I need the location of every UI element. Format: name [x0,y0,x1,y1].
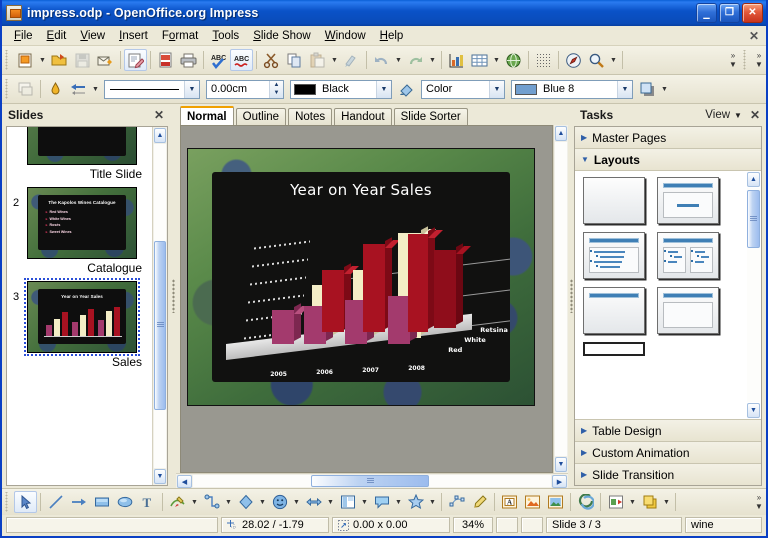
display-grid-icon[interactable] [532,49,555,71]
title-content-bullets-layout[interactable] [583,232,645,279]
scroll-down-icon[interactable]: ▼ [747,403,760,418]
scrollbar-thumb[interactable] [747,190,760,248]
editor-area: Normal Outline Notes Handout Slide Sorte… [176,104,568,488]
overflow-arrow-2: ▼ [755,60,763,69]
scrollbar-thumb[interactable] [311,475,429,487]
canvas-vertical-scrollbar[interactable]: ▲ ▼ [553,125,568,473]
overflow-arrow: ▼ [729,60,737,69]
slides-list-container: 1 Fine wines from Brambleburn Vineyards … [6,126,168,486]
slide-thumbnail[interactable]: The Kapolos Wines Catalogue Red Wines Wh… [27,187,137,259]
slide-label: Catalogue [7,259,152,277]
line-color-value: Black [316,83,376,95]
scroll-left-icon[interactable]: ◀ [177,475,192,488]
line-color-icon[interactable] [44,78,67,100]
slide-indicator-field: Slide 3 / 3 [546,517,682,533]
title-bar: impress.odp - OpenOffice.org Impress – ❐… [2,0,766,26]
cursor-position-value: 28.02 / -1.79 [242,519,304,531]
toolbar-grip[interactable] [4,50,11,70]
stars-icon[interactable] [404,491,427,513]
list-item[interactable]: 3 Year on Year Sales [7,277,152,353]
zoom-field[interactable]: 34% [453,517,493,533]
standard-toolbar-overflow-2[interactable]: » ▼ [752,47,766,73]
arrow-style-dropdown[interactable]: ▼ [90,78,101,100]
gallery-icon[interactable] [544,491,567,513]
select-icon[interactable] [14,491,37,513]
title-only-layout[interactable] [583,287,645,334]
menu-help[interactable]: Help [373,28,411,44]
task-section-label: Custom Animation [592,446,689,460]
autospellcheck-icon[interactable]: ABC [230,49,253,71]
toolbar-separator [256,51,257,69]
bar-2007-red [363,244,385,332]
zoom-dropdown[interactable]: ▼ [608,49,619,71]
new-document-icon[interactable] [14,49,37,71]
chevron-down-icon[interactable]: ▼ [184,81,199,98]
redo-icon[interactable] [404,49,427,71]
toolbar-separator [622,51,623,69]
scrollbar-track[interactable] [747,188,760,402]
task-section-label: Slide Transition [592,468,674,482]
toolbar-separator [494,493,495,511]
callouts-icon[interactable] [370,491,393,513]
fontwork-icon[interactable]: A [498,491,521,513]
axis-label-2006: 2006 [316,369,333,376]
line-width-spinner[interactable]: 0.00cm ▲▼ [206,80,284,99]
scroll-up-icon[interactable]: ▲ [747,172,760,187]
svg-text:ABC: ABC [211,55,226,62]
fill-color-value: Blue 8 [537,83,617,95]
axis-label-2007: 2007 [362,367,379,374]
cursor-position-field[interactable]: 28.02 / -1.79 [221,517,329,533]
redo-dropdown[interactable]: ▼ [427,49,438,71]
line-width-stepper[interactable]: ▲▼ [269,81,283,98]
tab-normal[interactable]: Normal [180,106,234,125]
series-label-white: White [464,336,486,344]
chart-title: Year on Year Sales [212,181,510,199]
block-arrows-dropdown[interactable]: ▼ [325,491,336,513]
toolbar-separator [40,493,41,511]
list-item[interactable]: 2 The Kapolos Wines Catalogue Red Wines … [7,183,152,259]
chart-icon[interactable] [445,49,468,71]
slide-label: Title Slide [7,165,152,183]
menu-insert[interactable]: Insert [112,28,155,44]
toolbar-separator [528,51,529,69]
line-icon[interactable] [44,491,67,513]
depth-grid [254,241,310,250]
hyperlink-icon[interactable] [502,49,525,71]
fill-type-combo[interactable]: Color ▼ [421,80,505,99]
slides-panel: Slides ✕ 1 Fine wines from Brambleburn V… [2,104,170,488]
arrow-style-icon[interactable] [67,78,90,100]
menu-tools[interactable]: Tools [205,28,246,44]
chevron-down-icon[interactable]: ▼ [489,81,504,98]
clone-formatting-icon[interactable] [340,49,363,71]
curve-dropdown[interactable]: ▼ [189,491,200,513]
email-document-icon[interactable] [94,49,117,71]
status-signature-field [521,517,543,533]
drawing-toolbar-grip[interactable] [4,492,11,512]
chevron-down-icon[interactable]: ▼ [617,81,632,98]
export-pdf-icon[interactable] [154,49,177,71]
cursor-position-icon [227,520,238,531]
slide-number: 3 [13,281,25,303]
bullet-item: White Wines [46,217,127,221]
tab-slide-sorter[interactable]: Slide Sorter [394,108,468,125]
menu-window[interactable]: Window [318,28,373,44]
print-icon[interactable] [177,49,200,71]
chevron-right-icon: ▶ [581,426,587,435]
chevron-right-icon: ▶ [581,448,587,457]
slide-number: 2 [13,187,25,209]
task-section-layouts[interactable]: ▼ Layouts [575,149,761,171]
navigator-icon[interactable] [562,49,585,71]
depth-grid [250,277,306,286]
title-two-content-layout[interactable] [657,232,719,279]
line-style-combo[interactable]: ▼ [104,80,200,99]
tasks-panel-header: Tasks View ▼ ✕ [574,104,766,126]
view-tabs: Normal Outline Notes Handout Slide Sorte… [176,104,568,125]
toolbar-separator [40,80,41,98]
tasks-view-label: View [705,109,730,121]
overflow-chevrons-2: » [757,51,761,60]
fill-color-combo[interactable]: Blue 8 ▼ [511,80,633,99]
mini-chart [44,305,123,339]
copy-icon[interactable] [283,49,306,71]
bar-2008-retsina [388,296,410,344]
impress-window: impress.odp - OpenOffice.org Impress – ❐… [0,0,768,538]
chevron-down-icon: ▼ [581,155,589,164]
chevron-down-icon[interactable]: ▼ [734,111,742,120]
slide-thumbnail-selected[interactable]: Year on Year Sales [27,281,137,353]
bullet-item: Rosés [46,223,127,227]
shadow-icon[interactable] [636,78,659,100]
tab-outline[interactable]: Outline [236,108,286,125]
chart-object[interactable]: Year on Year Sales [212,172,510,382]
line-style-preview [105,89,184,90]
undo-dropdown[interactable]: ▼ [393,49,404,71]
tasks-sections: ▶ Master Pages ▼ Layouts [574,126,762,486]
zoom-icon[interactable] [585,49,608,71]
chevron-right-icon: ▶ [581,470,587,479]
close-slides-panel-icon[interactable]: ✕ [152,108,166,122]
chevron-down-icon[interactable]: ▼ [376,81,391,98]
overflow-arrow: ▼ [755,502,763,511]
line-color-combo[interactable]: Black ▼ [290,80,392,99]
drawing-toolbar: T ▼ ▼ ▼ ▼ ▼ ▼ ▼ ▼ [2,488,766,515]
object-size-icon [338,520,349,531]
curve-icon[interactable] [166,491,189,513]
scroll-down-icon[interactable]: ▼ [154,469,166,484]
chevron-right-icon: ▶ [581,133,587,142]
depth-grid [248,295,304,304]
toolbar-grip-2[interactable] [742,50,749,70]
slide-content: Year on Year Sales [38,289,127,344]
menu-slide-show[interactable]: Slide Show [246,28,318,44]
scroll-up-icon[interactable]: ▲ [555,126,567,141]
rectangle-icon[interactable] [90,491,113,513]
toolbar-separator [600,493,601,511]
table-icon[interactable] [468,49,491,71]
axis-label-2005: 2005 [270,371,287,378]
overflow-chevrons: » [731,51,735,60]
caption-buttons: – ❐ ✕ [696,3,764,23]
master-name-field: wine [685,517,762,533]
symbol-shapes-icon[interactable] [268,491,291,513]
flowchart-icon[interactable] [336,491,359,513]
bar-2005-retsina [272,310,294,344]
alignment-icon[interactable] [604,491,627,513]
slide-editor: Year on Year Sales [176,125,568,473]
line-with-arrow-icon[interactable] [67,491,90,513]
task-section-label: Layouts [594,153,640,167]
title-content-layout[interactable] [657,177,719,224]
fill-type-value: Color [422,83,489,95]
save-icon[interactable] [71,49,94,71]
svg-text:A: A [507,499,512,507]
toolbar-separator [366,51,367,69]
maximize-icon: ❐ [720,8,739,18]
line-and-filling-toolbar: ▼ ▼ 0.00cm ▲▼ Black ▼ Color ▼ Blue 8 ▼ [2,75,766,104]
tab-notes[interactable]: Notes [288,108,332,125]
standard-toolbar-overflow[interactable]: » ▼ [726,47,740,73]
scrollbar-track[interactable] [555,142,567,456]
table-dropdown[interactable]: ▼ [491,49,502,71]
toolbar-separator [570,493,571,511]
line-toolbar-grip[interactable] [4,79,11,99]
task-section-master-pages[interactable]: ▶ Master Pages [575,127,761,149]
cut-icon[interactable] [260,49,283,71]
line-toolbar-overflow[interactable]: ▼ [659,78,670,100]
task-section-custom-animation[interactable]: ▶ Custom Animation [575,441,761,463]
tasks-panel: Tasks View ▼ ✕ ▶ Master Pages ▼ Layouts [574,104,766,488]
callouts-dropdown[interactable]: ▼ [393,491,404,513]
task-section-slide-transition[interactable]: ▶ Slide Transition [575,463,761,485]
overflow-chevrons: » [757,493,761,502]
slides-panel-title: Slides [8,108,43,122]
close-button[interactable]: ✕ [742,3,763,23]
menu-bar: FFileile Edit View Insert Format Tools S… [2,26,766,46]
task-section-label: Master Pages [592,131,666,145]
scrollbar-thumb[interactable] [154,241,166,409]
series-label-red: Red [448,346,462,354]
menu-edit[interactable]: Edit [40,28,74,44]
area-style-icon[interactable] [395,78,418,100]
slide-title-text: The Kapolos Wines Catalogue [38,200,127,205]
status-bar: 28.02 / -1.79 0.00 x 0.00 34% Slide 3 / … [2,515,766,536]
window-title: impress.odp - OpenOffice.org Impress [27,6,696,20]
blank-slide-layout[interactable] [583,177,645,224]
main-area: Slides ✕ 1 Fine wines from Brambleburn V… [2,104,766,488]
close-icon: ✕ [743,8,762,18]
connector-icon[interactable] [200,491,223,513]
minimize-button[interactable]: – [696,3,717,23]
slide-content: Fine wines from Brambleburn Vineyards [38,127,127,156]
object-size-value: 0.00 x 0.00 [353,519,407,531]
open-document-icon[interactable] [48,49,71,71]
scroll-up-icon[interactable]: ▲ [154,128,166,143]
layout-grid [575,171,746,419]
3d-effects-icon[interactable] [574,491,597,513]
slide-content: The Kapolos Wines Catalogue Red Wines Wh… [38,195,127,250]
slide-canvas-area[interactable]: Year on Year Sales [180,125,553,473]
menu-view[interactable]: View [73,28,112,44]
new-document-dropdown[interactable]: ▼ [37,49,48,71]
slide-title-text: Year on Year Sales [38,294,127,299]
canvas-horizontal-scrollbar[interactable]: ◀ ▶ [176,473,568,488]
slide-label: Sales [7,353,152,371]
layout-partial-row[interactable] [583,342,645,356]
arrange-dropdown[interactable]: ▼ [661,491,672,513]
bar-2008-red [408,234,428,332]
fill-color-swatch [515,84,537,95]
spelling-icon[interactable]: ABC [207,49,230,71]
bullet-item: Sweet Wines [46,230,127,234]
standard-toolbar: ▼ ABC ABC [2,46,766,75]
toolbar-separator [675,493,676,511]
alignment-dropdown[interactable]: ▼ [627,491,638,513]
toolbar-separator [162,493,163,511]
bar-2008-red-back [434,250,456,328]
slides-list[interactable]: 1 Fine wines from Brambleburn Vineyards … [7,127,152,485]
tasks-panel-title: Tasks [580,108,613,122]
connector-dropdown[interactable]: ▼ [223,491,234,513]
symbol-shapes-dropdown[interactable]: ▼ [291,491,302,513]
drawing-toolbar-overflow[interactable]: » ▼ [752,489,766,515]
toolbar-separator [441,493,442,511]
stars-dropdown[interactable]: ▼ [427,491,438,513]
task-section-label: Table Design [592,424,661,438]
layouts-scrollbar[interactable]: ▲ ▼ [746,171,761,419]
svg-text:ABC: ABC [234,56,249,63]
status-modified-field [496,517,518,533]
menu-format[interactable]: Format [155,28,205,44]
menu-file[interactable]: FFileile [7,28,40,44]
tab-handout[interactable]: Handout [334,108,391,125]
slide-bullets: Red Wines White Wines Rosés Sweet Wines [46,210,127,234]
minimize-icon: – [697,11,716,24]
scrollbar-track[interactable] [193,475,551,487]
basic-shapes-dropdown[interactable]: ▼ [257,491,268,513]
line-width-value: 0.00cm [207,83,269,95]
scroll-down-icon[interactable]: ▼ [555,457,567,472]
undo-icon[interactable] [370,49,393,71]
display-master-icon[interactable] [14,78,37,100]
impress-document-icon [6,5,22,21]
from-file-icon[interactable] [521,491,544,513]
paste-icon[interactable] [306,49,329,71]
svg-text:T: T [142,495,151,510]
paste-dropdown[interactable]: ▼ [329,49,340,71]
axis-label-2008: 2008 [408,365,425,372]
toolbar-separator [558,51,559,69]
depth-grid [252,259,308,268]
tasks-view-menu[interactable]: View ▼ [705,109,742,121]
maximize-button[interactable]: ❐ [719,3,740,23]
bullet-item: Red Wines [46,210,127,214]
glue-points-icon[interactable] [468,491,491,513]
basic-shapes-icon[interactable] [234,491,257,513]
points-icon[interactable] [445,491,468,513]
bar-2006-red [322,270,344,332]
ellipse-icon[interactable] [113,491,136,513]
toolbar-separator [150,51,151,69]
centered-text-layout[interactable] [657,287,719,334]
arrange-icon[interactable] [638,491,661,513]
toolbar-separator [441,51,442,69]
object-size-field[interactable]: 0.00 x 0.00 [332,517,450,533]
edit-file-icon[interactable] [124,49,147,71]
scrollbar-track[interactable] [154,144,166,468]
series-label-retsina: Retsina [480,326,508,334]
list-item[interactable]: 1 Fine wines from Brambleburn Vineyards [7,127,152,165]
close-document-icon[interactable]: ✕ [749,29,759,43]
layouts-list[interactable]: ▲ ▼ [575,171,761,419]
scroll-right-icon[interactable]: ▶ [552,475,567,488]
chart-plot-area: 2005 2006 2007 2008 Red White Retsina [212,202,510,382]
slide-canvas[interactable]: Year on Year Sales [187,148,535,406]
line-color-swatch [294,84,316,95]
flowchart-dropdown[interactable]: ▼ [359,491,370,513]
slide-thumbnail[interactable]: Fine wines from Brambleburn Vineyards [27,127,137,165]
toolbar-separator [203,51,204,69]
task-section-table-design[interactable]: ▶ Table Design [575,419,761,441]
block-arrows-icon[interactable] [302,491,325,513]
status-info [6,517,218,533]
slides-panel-header: Slides ✕ [2,104,170,126]
close-tasks-panel-icon[interactable]: ✕ [748,108,762,122]
text-box-icon[interactable]: T [136,491,159,513]
toolbar-separator [120,51,121,69]
slides-scrollbar[interactable]: ▲ ▼ [152,127,167,485]
